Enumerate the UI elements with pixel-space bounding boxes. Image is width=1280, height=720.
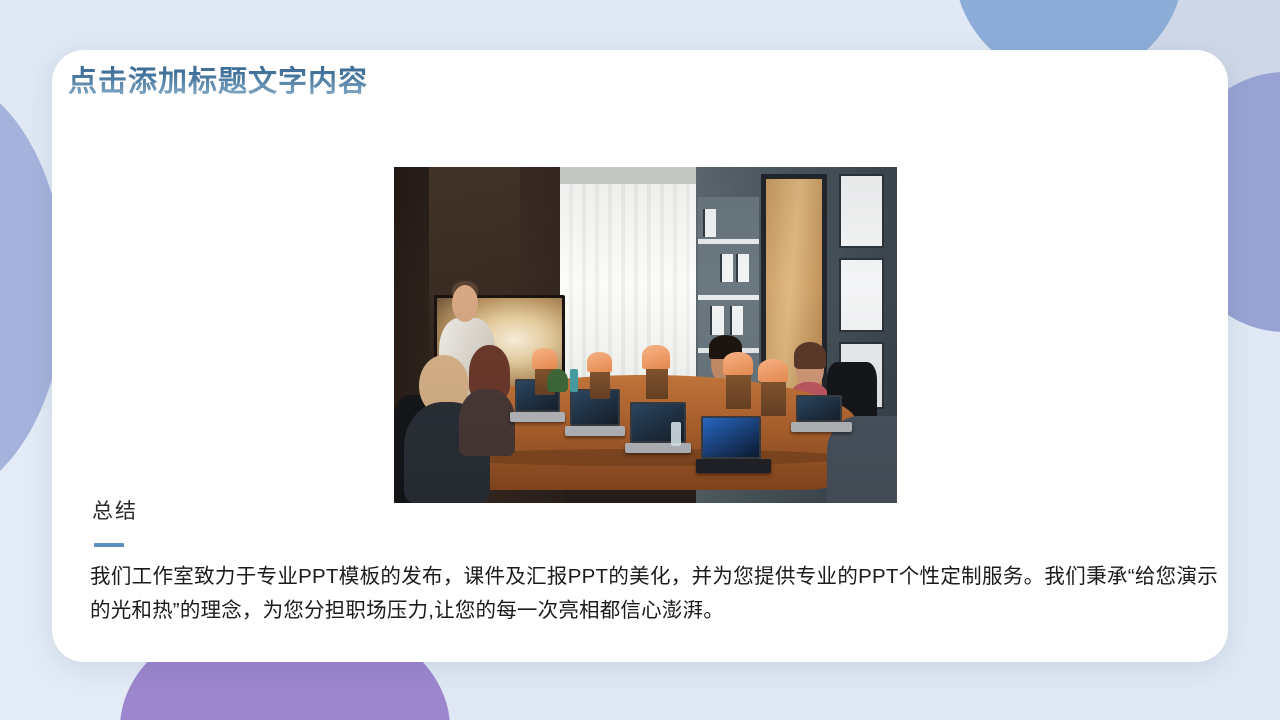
summary-accent-rule <box>94 543 124 547</box>
photo-vignette <box>394 167 897 503</box>
meeting-photo <box>394 167 897 503</box>
meeting-photo-scene <box>394 167 897 503</box>
summary-body-text: 我们工作室致力于专业PPT模板的发布，课件及汇报PPT的美化，并为您提供专业的P… <box>90 560 1218 628</box>
summary-heading: 总结 <box>92 495 138 525</box>
slide-content-card: 点击添加标题文字内容 <box>52 50 1228 662</box>
page-title: 点击添加标题文字内容 <box>68 58 368 100</box>
